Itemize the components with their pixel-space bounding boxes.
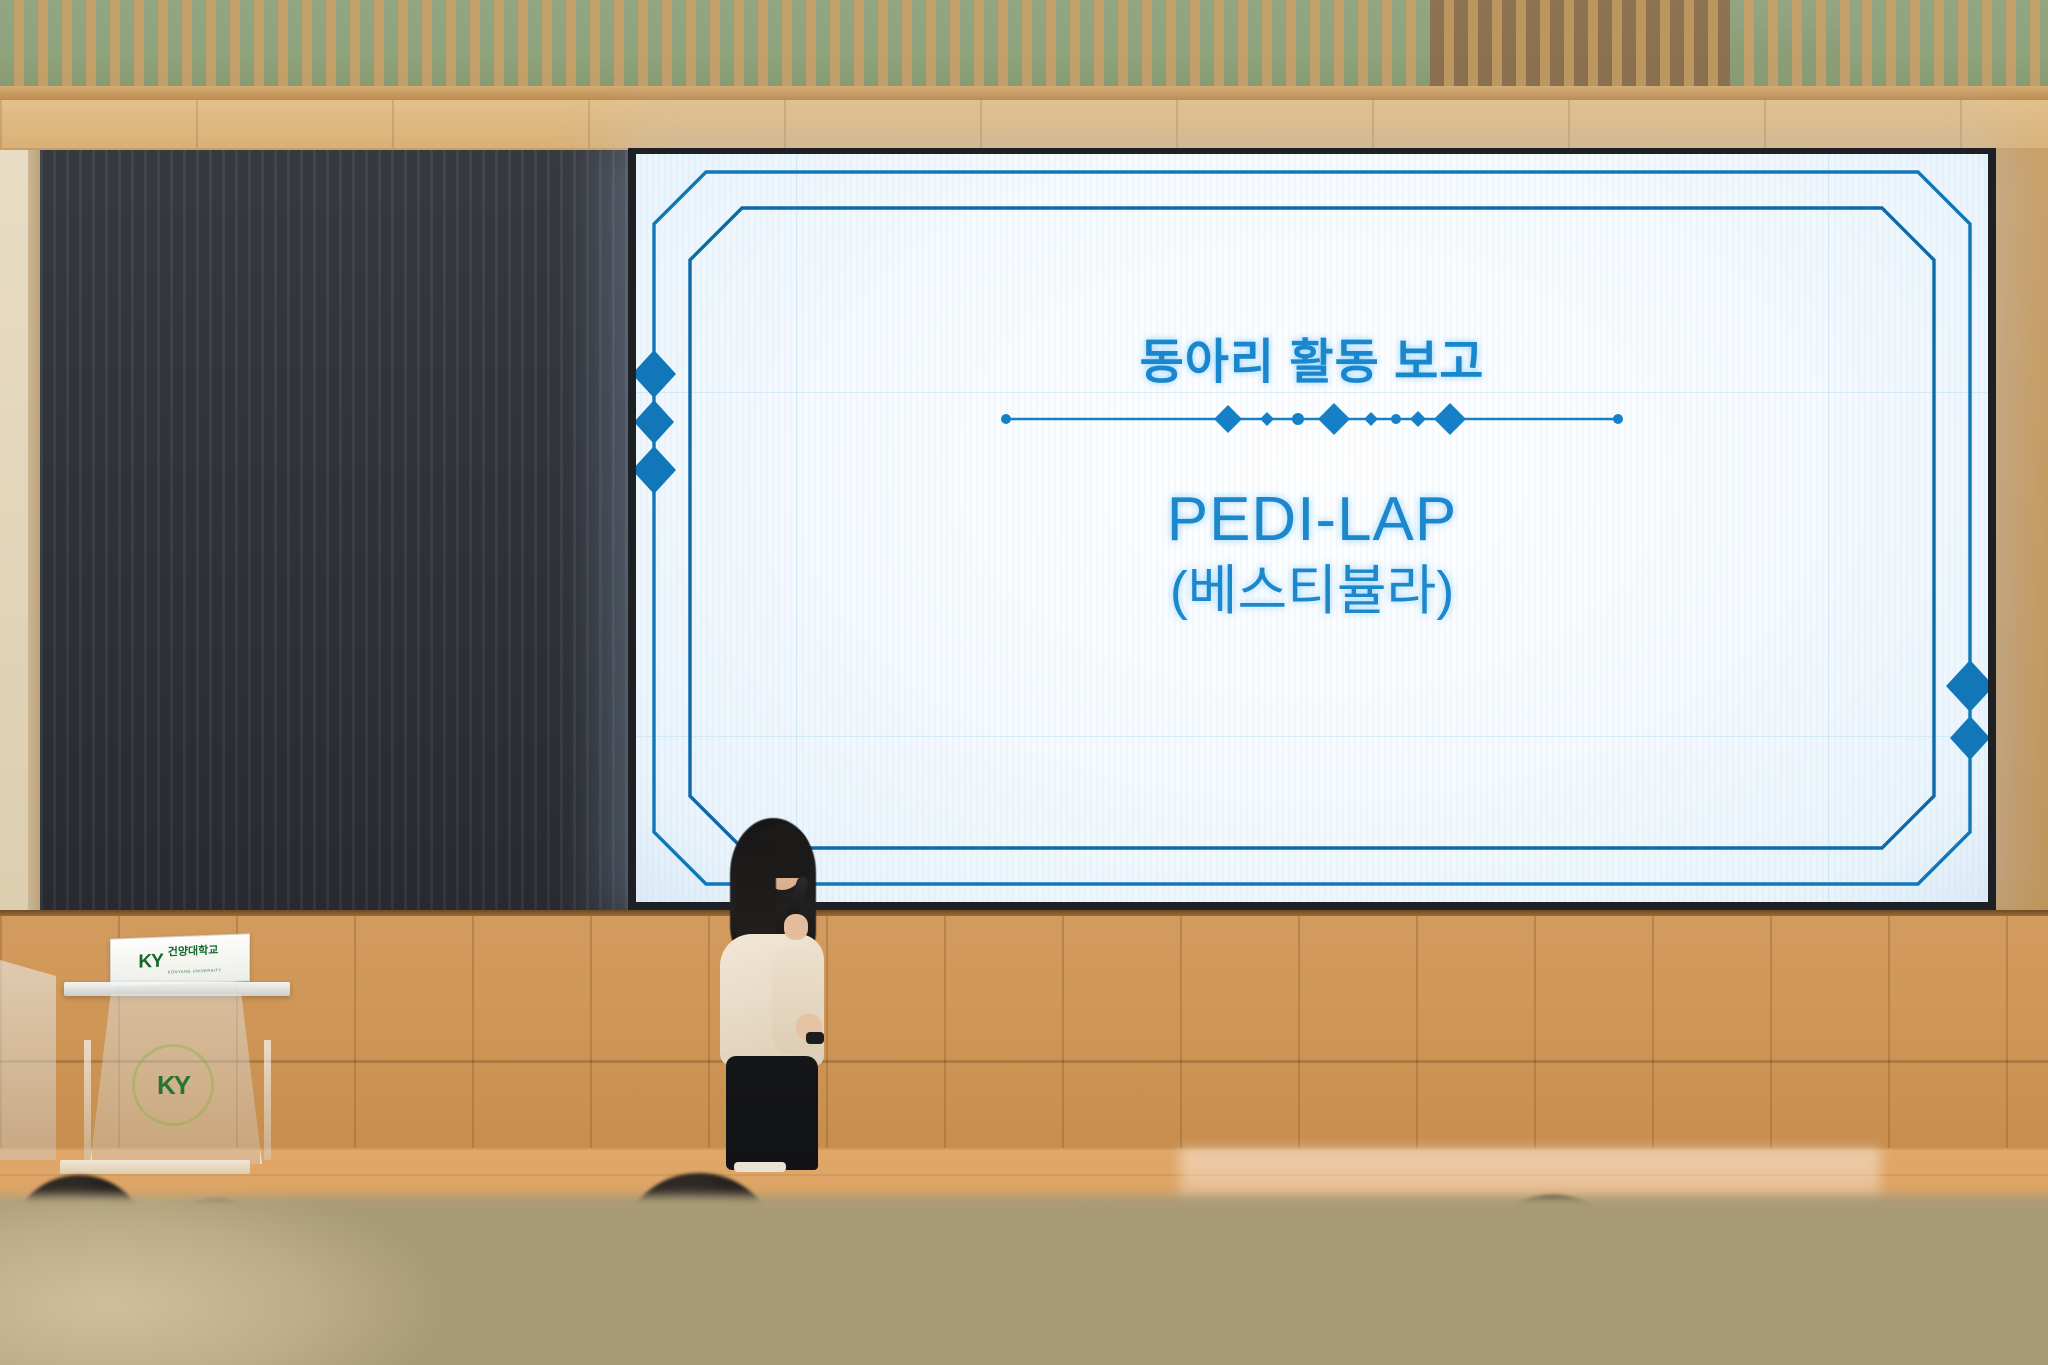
podium-top-surface <box>64 982 290 996</box>
presenter <box>712 818 832 1170</box>
slide-main-heading: PEDI-LAP (베스티뷸라) <box>636 484 1988 623</box>
podium-university-name-en: KONYANG UNIVERSITY <box>168 967 222 974</box>
podium-side-panel <box>0 960 56 1160</box>
divider-dot-left <box>1001 414 1011 424</box>
slide-divider <box>636 402 1988 436</box>
podium-university-name: 건양대학교 <box>168 945 219 959</box>
projected-slide: 동아리 활동 보고 PEDI-L <box>636 154 1988 902</box>
slide-heading-line1: PEDI-LAP <box>636 484 1988 556</box>
divider-diamond-small-2 <box>1364 412 1378 426</box>
divider-diamond-large-3 <box>1434 403 1466 435</box>
ceiling-acoustic-panel-warm <box>1430 0 1730 92</box>
divider-diamond-small-3 <box>1410 411 1426 427</box>
divider-dot-mid-2 <box>1391 414 1401 424</box>
presentation-clicker <box>806 1032 824 1044</box>
divider-diamond-large-1 <box>1214 405 1242 433</box>
podium-logo-ky: KY <box>138 951 162 971</box>
auditorium-scene: 동아리 활동 보고 PEDI-L <box>0 0 2048 1365</box>
wall-left-column <box>0 150 42 910</box>
slide-heading-line2: (베스티뷸라) <box>636 560 1988 623</box>
podium: KY 건양대학교 KONYANG UNIVERSITY KY <box>82 930 272 1170</box>
slide-title: 동아리 활동 보고 <box>636 322 1988 392</box>
presenter-hand-holding-microphone <box>784 914 808 940</box>
audience-area <box>0 1140 2048 1365</box>
podium-nameplate: KY 건양대학교 KONYANG UNIVERSITY <box>110 933 250 986</box>
stage-curtain <box>40 150 640 910</box>
wainscot-seam <box>0 1060 2048 1063</box>
projection-screen-frame: 동아리 활동 보고 PEDI-L <box>628 148 1996 910</box>
divider-ornament-svg <box>992 402 1632 436</box>
divider-diamond-small-1 <box>1260 412 1274 426</box>
divider-dot-right <box>1613 414 1623 424</box>
divider-diamond-large-2 <box>1318 403 1350 435</box>
frame-diamond-group-right <box>1946 660 1988 760</box>
ceiling-rail <box>0 86 2048 100</box>
podium-body-logo: KY <box>136 1048 210 1122</box>
front-row-seats <box>0 1195 2048 1365</box>
ceiling-acoustic-panel-right <box>1730 0 1850 92</box>
divider-dot-mid-1 <box>1292 413 1304 425</box>
ceiling-wood-panel-row <box>0 100 2048 148</box>
